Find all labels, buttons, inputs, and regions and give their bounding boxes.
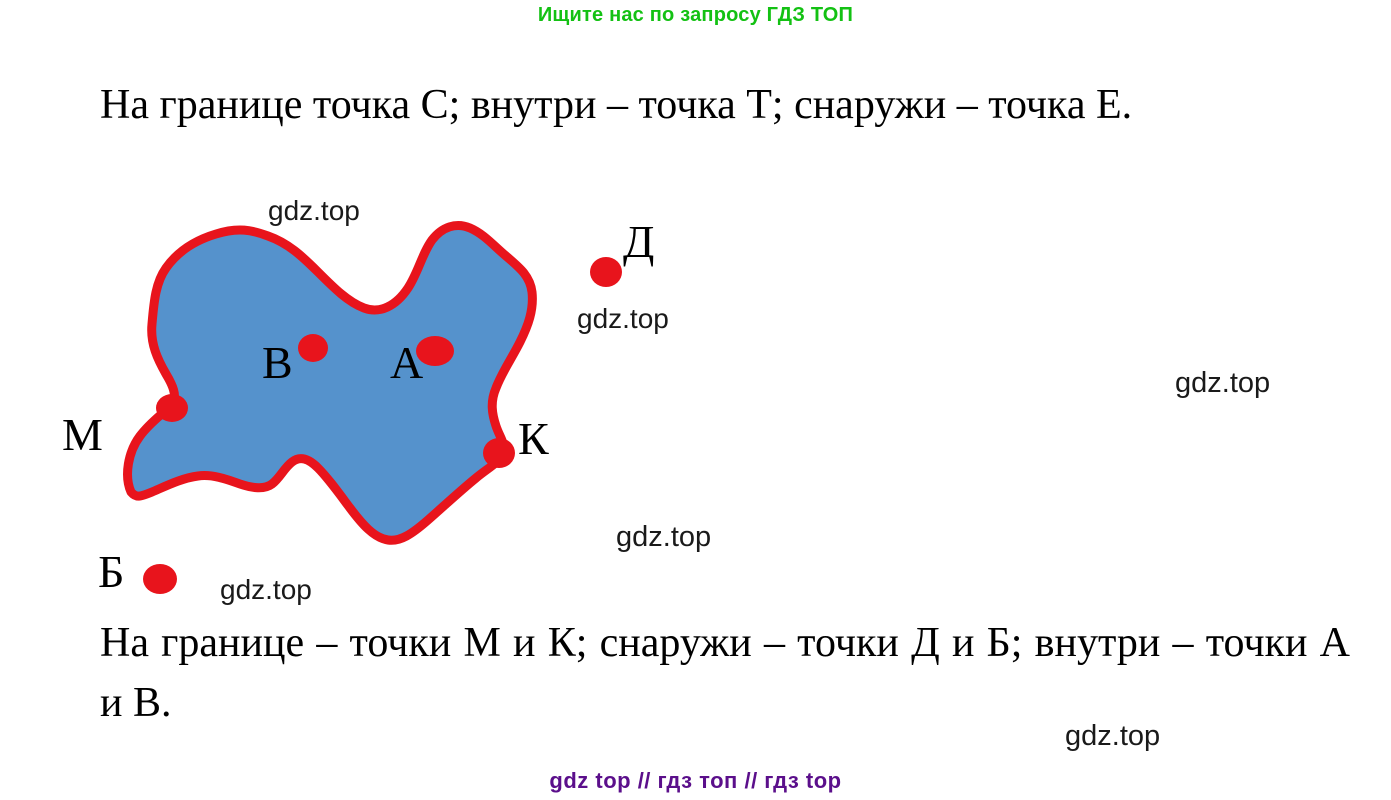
point-label-m: М: [62, 412, 103, 458]
point-dot-b: [298, 334, 328, 362]
watermark-0: gdz.top: [268, 195, 360, 227]
watermark-1: gdz.top: [577, 303, 669, 335]
site-promo-banner: Ищите нас по запросу ГДЗ ТОП: [0, 4, 1391, 27]
watermark-4: gdz.top: [220, 574, 312, 606]
point-label-k: К: [518, 416, 549, 462]
point-dot-d: [590, 257, 622, 287]
closed-curve-blob: [128, 225, 533, 540]
point-dot-bb: [143, 564, 177, 594]
point-label-a: А: [390, 340, 423, 386]
solution-text-top: На границе точка С; внутри – точка Т; сн…: [100, 76, 1350, 136]
watermark-3: gdz.top: [616, 521, 711, 554]
point-label-b: В: [262, 340, 293, 386]
point-label-d: Д: [623, 219, 654, 265]
solution-text-bottom: На границе – точки М и К; снаружи – точк…: [100, 614, 1350, 733]
point-dot-k: [483, 438, 515, 468]
point-dot-m: [156, 394, 188, 422]
watermark-2: gdz.top: [1175, 367, 1270, 400]
site-footer-banner: gdz top // гдз топ // гдз top: [0, 768, 1391, 794]
point-label-bb: Б: [98, 549, 124, 595]
